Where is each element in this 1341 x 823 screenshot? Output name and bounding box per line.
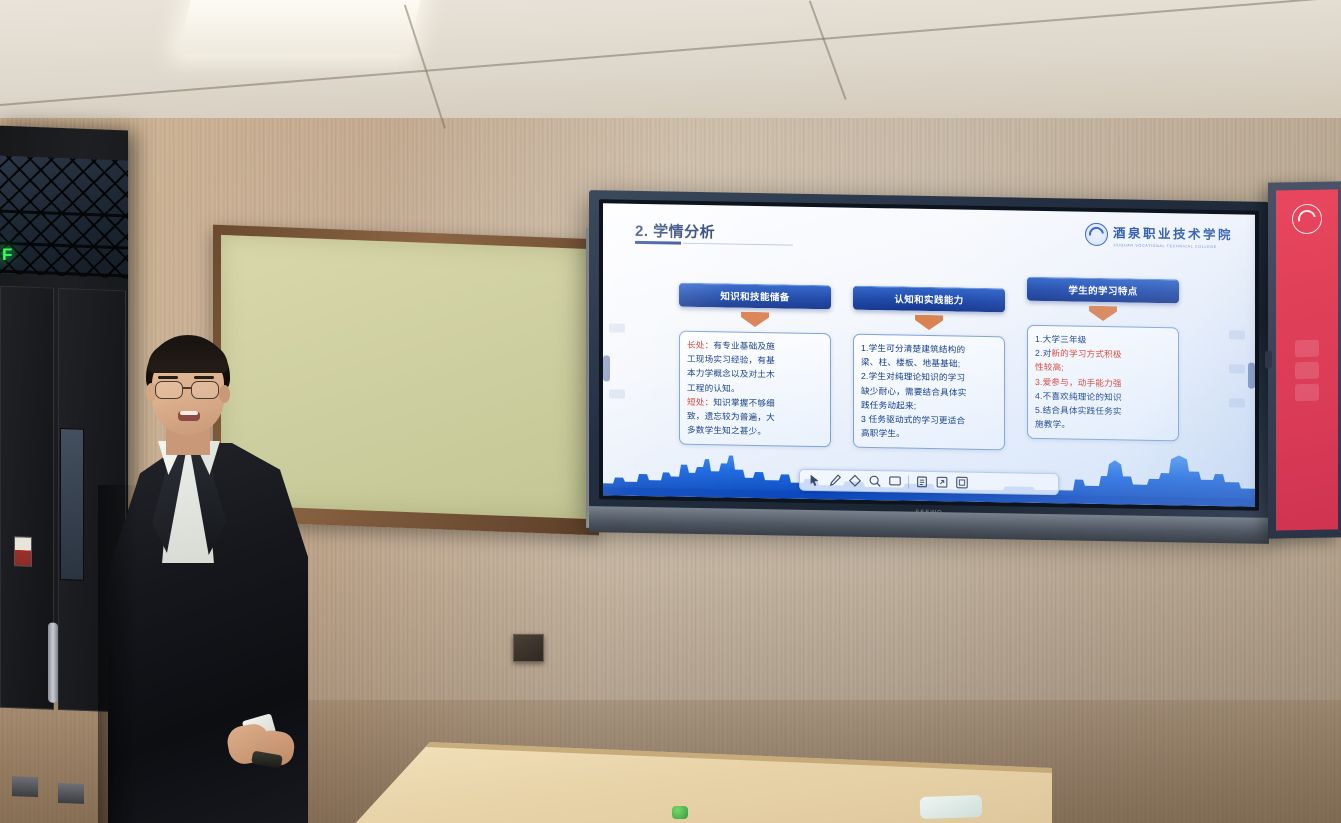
table-object-white <box>920 795 983 819</box>
left-ghost-button[interactable] <box>609 323 625 332</box>
left-ghost-button[interactable] <box>609 389 625 398</box>
college-name-en: JIUQUAN VOCATIONAL TECHNICAL COLLEGE <box>1113 243 1233 249</box>
door-handle[interactable] <box>48 622 58 702</box>
presentation-slide[interactable]: 2. 学情分析 酒泉职业技术学院 JIUQUAN VOCATIONAL TECH… <box>603 203 1255 506</box>
right-ghost-button[interactable] <box>1229 330 1245 339</box>
column-learning-traits: 学生的学习特点 1.大学三年级 2.对新的学习方式积极 性较高; 3.爱参与，动… <box>1027 277 1179 457</box>
line-text: 施教学。 <box>1035 417 1171 434</box>
line-text: 有专业基础及施 <box>713 340 775 351</box>
column-knowledge-skills: 知识和技能储备 长处：有专业基础及施 工现场实习经验，有基 本力学概念以及对土木… <box>679 283 831 451</box>
glasses-lens-left <box>155 381 183 399</box>
export-icon[interactable] <box>935 475 949 489</box>
magnifier-icon[interactable] <box>868 474 882 488</box>
text-box: 长处：有专业基础及施 工现场实习经验，有基 本力学概念以及对土木 工程的认知。 … <box>679 331 831 448</box>
ceiling <box>0 0 1341 118</box>
title-rule <box>683 243 793 246</box>
diamond-lattice-pattern <box>0 155 128 278</box>
text-box: 1.大学三年级 2.对新的学习方式积极 性较高; 3.爱参与，动手能力强 4.不… <box>1027 325 1179 442</box>
panel-side-button[interactable] <box>1265 351 1272 369</box>
cursor-icon[interactable] <box>808 473 822 487</box>
line-text: 知识掌握不够细 <box>713 397 775 408</box>
toolbar-divider <box>908 475 909 488</box>
ceiling-seam <box>809 0 846 99</box>
ceiling-seam <box>404 5 446 129</box>
panel-up-button[interactable] <box>1295 340 1319 357</box>
line-red: 短处： <box>687 397 713 407</box>
eyebrow-left <box>158 376 178 379</box>
text-box: 1.学生可分清楚建筑结构的 梁、柱、楼板、地基基础; 2.学生对纯理论知识的学习… <box>853 334 1005 451</box>
line-text: 多数学生知之甚少。 <box>687 423 823 440</box>
panel-ok-button[interactable] <box>1295 362 1319 379</box>
chevron-down-icon <box>741 312 769 327</box>
eyebrow-right <box>194 376 214 379</box>
eraser-icon[interactable] <box>848 474 862 488</box>
line-red: 长处： <box>687 340 713 350</box>
page-icon[interactable] <box>915 475 929 489</box>
column-badge: 认知和实践能力 <box>853 286 1005 313</box>
secondary-display-screen[interactable] <box>1276 189 1338 530</box>
presenter-shadow <box>98 485 138 823</box>
hair-front <box>148 343 228 373</box>
column-cognition-practice: 认知和实践能力 1.学生可分清楚建筑结构的 梁、柱、楼板、地基基础; 2.学生对… <box>853 286 1005 454</box>
door-transom-glass <box>0 155 128 278</box>
content-columns: 知识和技能储备 长处：有专业基础及施 工现场实习经验，有基 本力学概念以及对土木… <box>603 281 1255 457</box>
page-title: 2. 学情分析 <box>635 220 715 242</box>
door-hinge-plate <box>58 783 84 804</box>
college-name-cn: 酒泉职业技术学院 <box>1113 222 1233 243</box>
ear-right <box>219 385 230 403</box>
ceiling-light <box>178 0 422 54</box>
title-underline <box>635 241 681 245</box>
door-hinge-plate <box>12 776 38 797</box>
table-object-green <box>672 806 688 819</box>
right-drawer-handle[interactable] <box>1248 363 1255 389</box>
pen-icon[interactable] <box>828 473 842 487</box>
classroom-photo-scene: F SEEWO 2. 学情分析 酒泉职业技术学院 JIUQUAN VOCATIO… <box>0 0 1341 823</box>
wall-socket <box>513 634 544 662</box>
left-drawer-handle[interactable] <box>603 355 610 381</box>
exit-indicator: F <box>2 245 12 265</box>
right-ghost-button[interactable] <box>1229 364 1245 373</box>
column-badge: 知识和技能储备 <box>679 283 831 310</box>
screen-icon[interactable] <box>888 474 902 488</box>
interactive-flat-panel[interactable]: SEEWO 2. 学情分析 酒泉职业技术学院 JIUQUAN VOCATIONA… <box>589 190 1269 532</box>
panel-logo-icon <box>1292 204 1322 235</box>
chevron-down-icon <box>1089 306 1117 321</box>
chevron-down-icon <box>915 315 943 330</box>
capture-icon[interactable] <box>955 475 969 489</box>
line-text: 高职学生。 <box>861 426 997 443</box>
glasses-bridge <box>182 387 192 389</box>
door-vision-panel <box>60 428 84 581</box>
glasses-lens-right <box>191 381 219 399</box>
annotation-toolbar[interactable] <box>799 469 1059 496</box>
secondary-display-panel[interactable] <box>1268 181 1341 538</box>
presenter <box>108 335 308 823</box>
panel-down-button[interactable] <box>1295 384 1319 401</box>
door-notice-sign <box>14 536 32 567</box>
college-emblem-icon <box>1085 223 1108 246</box>
column-badge: 学生的学习特点 <box>1027 277 1179 304</box>
teeth <box>180 411 198 415</box>
college-logo: 酒泉职业技术学院 JIUQUAN VOCATIONAL TECHNICAL CO… <box>1085 222 1233 250</box>
right-ghost-button[interactable] <box>1229 398 1245 407</box>
